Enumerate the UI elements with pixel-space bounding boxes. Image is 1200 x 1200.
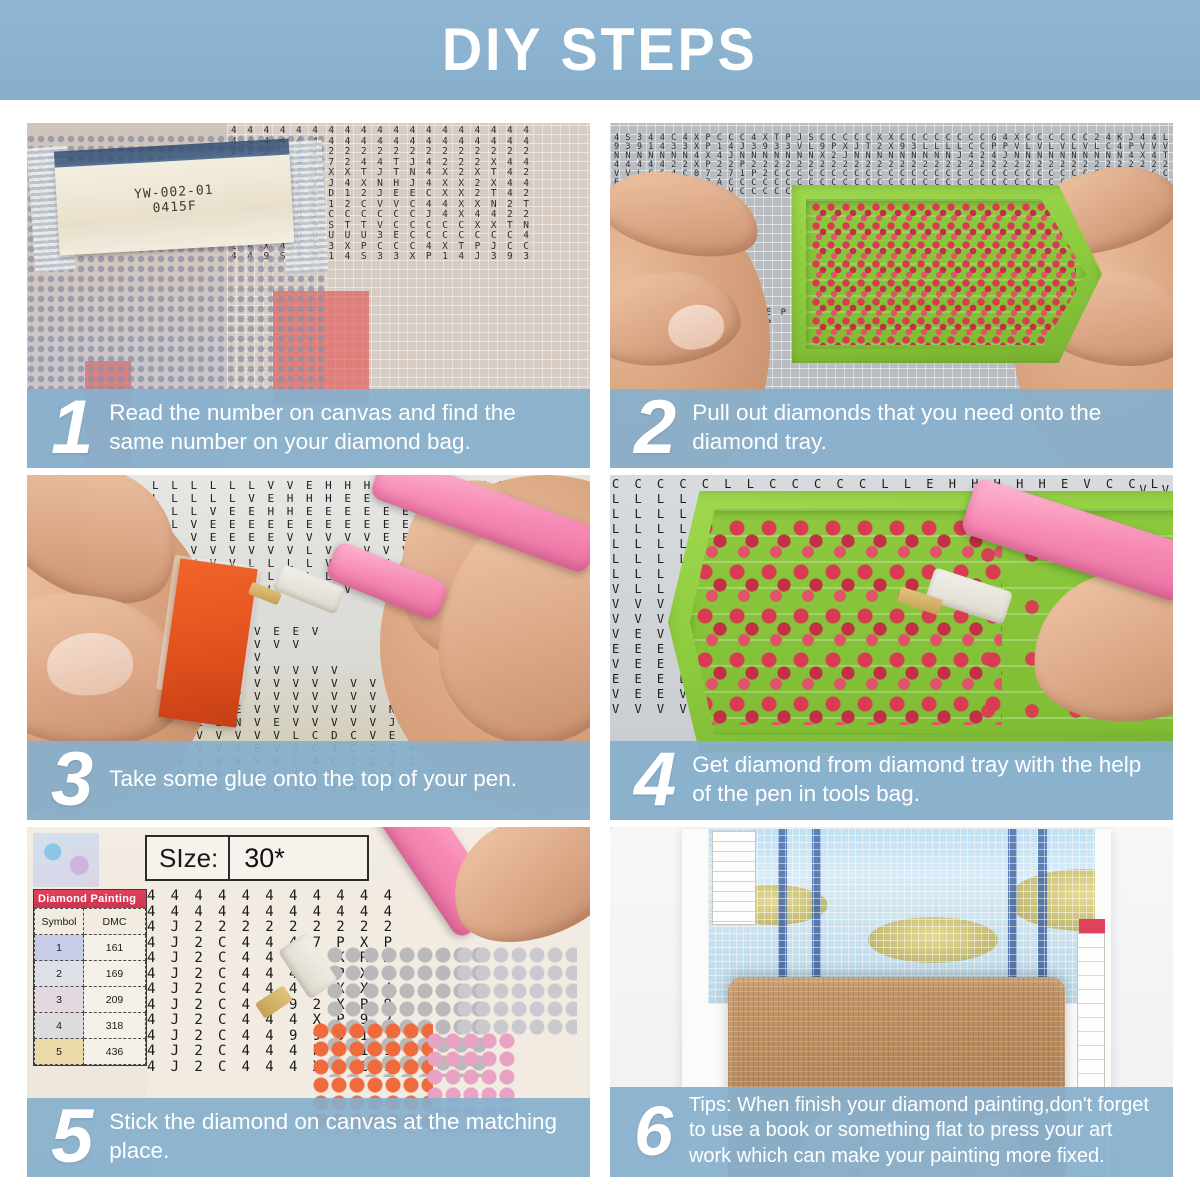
step-5-number: 5: [37, 1104, 109, 1169]
step-2-caption: 2 Pull out diamonds that you need onto t…: [610, 389, 1173, 468]
diamond-bag: YW-002-01 0415F: [55, 153, 295, 256]
diy-steps-infographic: DIY STEPS 4 4 4 4 4 4 4 4 4 4 4 4 4 4 4 …: [0, 0, 1200, 1200]
red-diamonds-cluster: [696, 519, 1002, 725]
header-banner: DIY STEPS: [0, 0, 1200, 100]
preview-thumbnail: [33, 833, 99, 887]
legend-symbol: 2: [35, 961, 84, 987]
size-label: SIze:: [147, 837, 230, 879]
step-4-caption: 4 Get diamond from diamond tray with the…: [610, 741, 1173, 820]
tray-well: [806, 199, 1086, 349]
size-box: SIze: 30*: [145, 835, 369, 881]
step-panel-2: 4 S 3 4 4 C 4 X P C C C 4 X T P J S C C …: [610, 123, 1173, 468]
legend-dmc: 161: [84, 935, 146, 961]
step-1-caption: 1 Read the number on canvas and find the…: [27, 389, 590, 468]
step-3-caption: 3 Take some glue onto the top of your pe…: [27, 741, 590, 820]
table-row: 5 436: [35, 1039, 146, 1065]
table-row: 4 318: [35, 1013, 146, 1039]
step-panel-4: C C C C C L L C C C C C L L E H H H H H …: [610, 475, 1173, 820]
step-panel-3: L L L L L L L L L L V V E H H H H H H H …: [27, 475, 590, 820]
step-4-number: 4: [620, 747, 692, 812]
legend-dmc: 169: [84, 961, 146, 987]
step-6-caption: 6 Tips: When finish your diamond paintin…: [610, 1087, 1173, 1177]
landscape-island-center: [868, 917, 998, 963]
diamond-tray: [792, 185, 1102, 363]
step-1-number: 1: [37, 395, 109, 460]
symbol-dmc-legend: Diamond Painting Symbol DMC 1 161 2 169: [33, 889, 147, 1066]
chart-legend-strip-top: [712, 831, 756, 925]
legend-symbol: 1: [35, 935, 84, 961]
step-6-text: Tips: When finish your diamond painting,…: [689, 1093, 1163, 1169]
legend-header-dmc: DMC: [84, 909, 146, 935]
step-panel-1: 4 4 4 4 4 4 4 4 4 4 4 4 4 4 4 4 4 4 4 4 …: [27, 123, 590, 468]
step-5-text: Stick the diamond on canvas at the match…: [109, 1107, 580, 1166]
step-3-text: Take some glue onto the top of your pen.: [109, 764, 580, 794]
step-5-caption: 5 Stick the diamond on canvas at the mat…: [27, 1098, 590, 1177]
size-value: 30*: [230, 843, 285, 874]
step-2-text: Pull out diamonds that you need onto the…: [692, 398, 1163, 457]
legend-dmc: 436: [84, 1039, 146, 1065]
legend-symbol: 5: [35, 1039, 84, 1065]
step-4-text: Get diamond from diamond tray with the h…: [692, 750, 1163, 809]
legend-dmc: 209: [84, 987, 146, 1013]
table-row: 3 209: [35, 987, 146, 1013]
legend-strip-header: [1079, 919, 1105, 934]
legend-table: Symbol DMC 1 161 2 169 3: [34, 908, 146, 1065]
table-row: 1 161: [35, 935, 146, 961]
step-2-number: 2: [620, 395, 692, 460]
step-panel-5: SIze: 30* Diamond Painting Symbol DMC 1 …: [27, 827, 590, 1177]
silver-beads: [457, 947, 577, 1037]
legend-symbol: 3: [35, 987, 84, 1013]
legend-header-symbol: Symbol: [35, 909, 84, 935]
red-diamonds: [812, 203, 1076, 345]
legend-dmc: 318: [84, 1013, 146, 1039]
bag-label: YW-002-01 0415F: [134, 183, 215, 217]
legend-header-row: Symbol DMC: [35, 909, 146, 935]
page-title: DIY STEPS: [442, 20, 758, 80]
step-panel-6: 6 Tips: When finish your diamond paintin…: [610, 827, 1173, 1177]
table-row: 2 169: [35, 961, 146, 987]
legend-title: Diamond Painting: [34, 890, 146, 908]
steps-grid: 4 4 4 4 4 4 4 4 4 4 4 4 4 4 4 4 4 4 4 4 …: [27, 123, 1173, 1178]
legend-symbol: 4: [35, 1013, 84, 1039]
step-3-number: 3: [37, 747, 109, 812]
step-6-number: 6: [620, 1101, 689, 1161]
step-1-text: Read the number on canvas and find the s…: [109, 398, 580, 457]
